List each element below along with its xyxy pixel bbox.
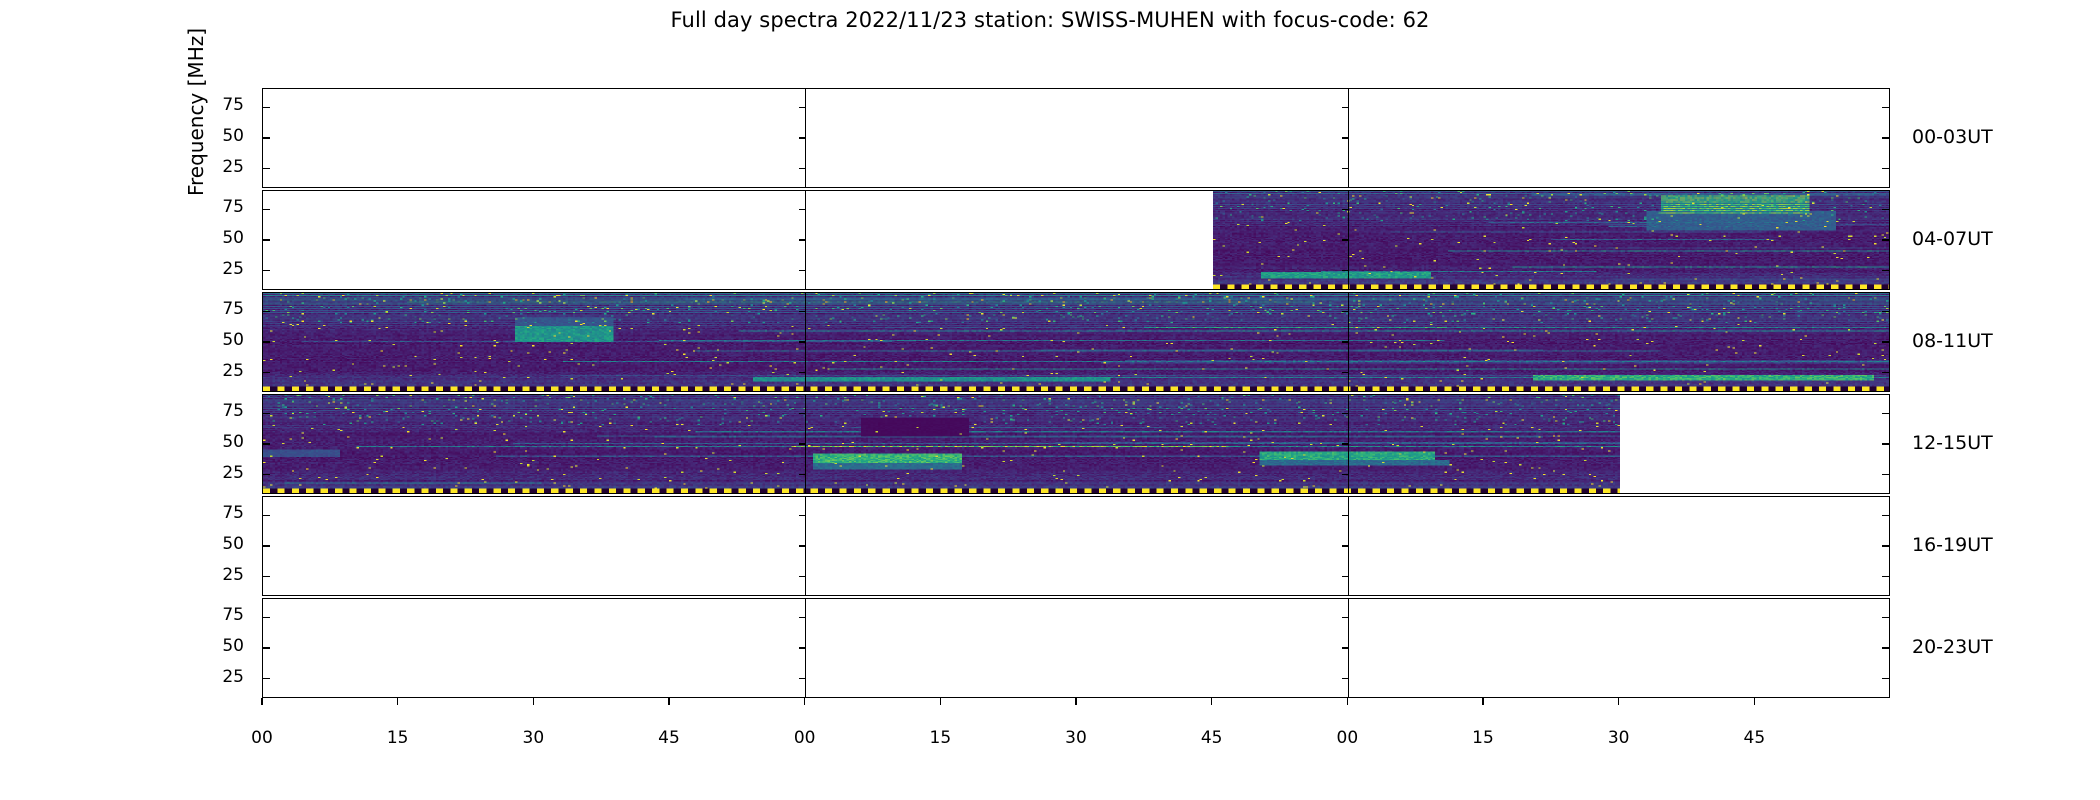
y-tick-mark xyxy=(799,168,805,169)
x-tick-label: 30 xyxy=(513,728,553,748)
y-tick-mark xyxy=(263,647,270,648)
y-tick-label: 50 xyxy=(200,636,244,656)
y-tick-label: 50 xyxy=(200,432,244,452)
spectrogram-image xyxy=(1213,191,1890,289)
x-tick-label: 45 xyxy=(649,728,689,748)
x-tick-mark xyxy=(1618,698,1619,705)
y-tick-mark xyxy=(1882,443,1889,444)
x-tick-label: 15 xyxy=(378,728,418,748)
y-tick-label: 75 xyxy=(200,95,244,115)
y-tick-mark xyxy=(1882,270,1889,271)
x-tick-label: 00 xyxy=(242,728,282,748)
y-tick-label: 25 xyxy=(200,157,244,177)
y-tick-mark xyxy=(263,137,270,138)
y-tick-label: 25 xyxy=(200,259,244,279)
x-tick-mark xyxy=(1211,698,1212,705)
spectrogram-panel-04-07ut[interactable] xyxy=(262,190,1890,290)
y-tick-mark xyxy=(799,678,805,679)
y-tick-label: 50 xyxy=(200,126,244,146)
x-tick-label: 45 xyxy=(1734,728,1774,748)
hour-separator xyxy=(805,191,806,289)
y-tick-mark xyxy=(1882,341,1889,342)
row-label-20-23ut: 20-23UT xyxy=(1912,636,1993,658)
y-tick-mark xyxy=(263,576,270,577)
figure-canvas: Full day spectra 2022/11/23 station: SWI… xyxy=(0,0,2100,800)
y-tick-mark xyxy=(263,209,270,210)
y-tick-mark xyxy=(1882,372,1889,373)
y-tick-mark xyxy=(799,107,805,108)
hour-separator xyxy=(1348,395,1349,493)
y-tick-mark xyxy=(263,107,270,108)
y-tick-mark xyxy=(263,413,270,414)
y-tick-label: 25 xyxy=(200,361,244,381)
spectrogram-panel-08-11ut[interactable] xyxy=(262,292,1890,392)
row-label-04-07ut: 04-07UT xyxy=(1912,228,1993,250)
y-tick-mark xyxy=(1882,311,1889,312)
x-tick-label: 45 xyxy=(1192,728,1232,748)
y-tick-mark xyxy=(1342,372,1348,373)
y-tick-label: 25 xyxy=(200,463,244,483)
x-tick-mark xyxy=(804,698,805,705)
hour-separator xyxy=(805,599,806,697)
hour-separator xyxy=(805,89,806,187)
hour-separator xyxy=(1348,599,1349,697)
y-tick-mark xyxy=(1882,239,1889,240)
y-tick-mark xyxy=(263,372,270,373)
y-tick-mark xyxy=(1882,545,1889,546)
y-tick-mark xyxy=(263,443,270,444)
y-tick-label: 25 xyxy=(200,667,244,687)
y-tick-mark xyxy=(263,678,270,679)
hour-separator xyxy=(1348,497,1349,595)
x-tick-label: 00 xyxy=(1327,728,1367,748)
y-tick-mark xyxy=(1882,168,1889,169)
x-tick-mark xyxy=(668,698,669,705)
x-tick-mark xyxy=(261,698,262,705)
y-tick-mark xyxy=(1342,137,1348,138)
y-tick-mark xyxy=(1342,311,1348,312)
x-tick-mark xyxy=(397,698,398,705)
y-tick-mark xyxy=(799,413,805,414)
y-tick-mark xyxy=(1342,209,1348,210)
y-tick-mark xyxy=(1882,209,1889,210)
hour-separator xyxy=(805,395,806,493)
spectrogram-panel-12-15ut[interactable] xyxy=(262,394,1890,494)
row-label-00-03ut: 00-03UT xyxy=(1912,126,1993,148)
y-tick-mark xyxy=(263,270,270,271)
row-label-12-15ut: 12-15UT xyxy=(1912,432,1993,454)
x-tick-mark xyxy=(1075,698,1076,705)
x-tick-label: 30 xyxy=(1056,728,1096,748)
y-tick-mark xyxy=(1342,270,1348,271)
row-label-16-19ut: 16-19UT xyxy=(1912,534,1993,556)
x-tick-mark xyxy=(533,698,534,705)
y-tick-mark xyxy=(799,515,805,516)
y-tick-mark xyxy=(1882,474,1889,475)
y-tick-label: 25 xyxy=(200,565,244,585)
y-tick-mark xyxy=(799,341,805,342)
x-tick-label: 15 xyxy=(1463,728,1503,748)
y-tick-mark xyxy=(799,474,805,475)
hour-separator xyxy=(1348,293,1349,391)
y-tick-label: 75 xyxy=(200,605,244,625)
y-tick-mark xyxy=(263,545,270,546)
y-tick-mark xyxy=(799,647,805,648)
y-tick-mark xyxy=(1882,678,1889,679)
x-tick-label: 30 xyxy=(1599,728,1639,748)
y-tick-mark xyxy=(1342,474,1348,475)
y-tick-mark xyxy=(1342,239,1348,240)
x-tick-mark xyxy=(1347,698,1348,705)
y-tick-mark xyxy=(799,576,805,577)
spectrogram-panel-20-23ut[interactable] xyxy=(262,598,1890,698)
y-tick-mark xyxy=(1342,617,1348,618)
spectrogram-image xyxy=(263,293,1890,391)
x-tick-label: 15 xyxy=(920,728,960,748)
y-tick-mark xyxy=(1342,168,1348,169)
y-tick-mark xyxy=(1882,107,1889,108)
y-tick-mark xyxy=(1882,647,1889,648)
y-tick-label: 75 xyxy=(200,299,244,319)
x-tick-label: 00 xyxy=(785,728,825,748)
spectrogram-panel-00-03ut[interactable] xyxy=(262,88,1890,188)
x-tick-mark xyxy=(1482,698,1483,705)
y-tick-mark xyxy=(1342,647,1348,648)
y-tick-mark xyxy=(1342,576,1348,577)
hour-separator xyxy=(1348,191,1349,289)
figure-title: Full day spectra 2022/11/23 station: SWI… xyxy=(0,8,2100,32)
y-tick-mark xyxy=(1342,678,1348,679)
y-tick-mark xyxy=(1342,515,1348,516)
hour-separator xyxy=(1348,89,1349,187)
y-tick-mark xyxy=(1342,443,1348,444)
y-tick-mark xyxy=(799,617,805,618)
y-tick-label: 75 xyxy=(200,401,244,421)
y-tick-mark xyxy=(1342,107,1348,108)
y-tick-mark xyxy=(263,341,270,342)
y-tick-mark xyxy=(1882,617,1889,618)
y-tick-mark xyxy=(263,311,270,312)
y-tick-mark xyxy=(1882,413,1889,414)
y-tick-label: 50 xyxy=(200,534,244,554)
y-tick-mark xyxy=(1882,137,1889,138)
y-tick-mark xyxy=(799,372,805,373)
y-tick-mark xyxy=(1342,413,1348,414)
y-tick-mark xyxy=(1882,576,1889,577)
y-tick-mark xyxy=(1342,545,1348,546)
y-tick-mark xyxy=(263,239,270,240)
y-tick-label: 75 xyxy=(200,197,244,217)
y-tick-mark xyxy=(799,545,805,546)
y-tick-mark xyxy=(1882,515,1889,516)
hour-separator xyxy=(805,293,806,391)
y-tick-mark xyxy=(799,137,805,138)
y-tick-mark xyxy=(263,168,270,169)
y-tick-mark xyxy=(799,239,805,240)
y-tick-label: 50 xyxy=(200,330,244,350)
row-label-08-11ut: 08-11UT xyxy=(1912,330,1993,352)
y-tick-mark xyxy=(799,209,805,210)
y-tick-label: 50 xyxy=(200,228,244,248)
y-tick-mark xyxy=(263,474,270,475)
spectrogram-panel-16-19ut[interactable] xyxy=(262,496,1890,596)
y-tick-mark xyxy=(799,270,805,271)
hour-separator xyxy=(805,497,806,595)
y-tick-mark xyxy=(263,515,270,516)
y-tick-mark xyxy=(263,617,270,618)
spectrogram-image xyxy=(263,395,1620,493)
y-tick-label: 75 xyxy=(200,503,244,523)
y-tick-mark xyxy=(799,311,805,312)
y-tick-mark xyxy=(799,443,805,444)
x-tick-mark xyxy=(1754,698,1755,705)
x-tick-mark xyxy=(940,698,941,705)
y-tick-mark xyxy=(1342,341,1348,342)
